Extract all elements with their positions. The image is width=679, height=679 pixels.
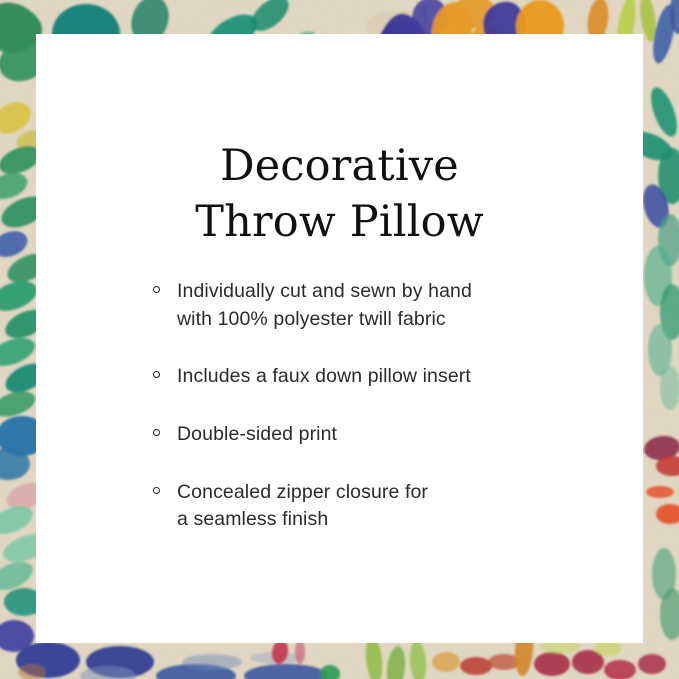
product-info-card: Decorative Throw Pillow Individually cut… (36, 34, 643, 643)
hollow-circle-bullet-icon (153, 429, 160, 436)
feature-text: Concealed zipper closure for a seamless … (177, 479, 609, 534)
list-item: Individually cut and sewn by hand with 1… (153, 278, 609, 333)
title-line-1: Decorative (36, 138, 643, 194)
hollow-circle-bullet-icon (153, 371, 160, 378)
product-info-card-screen: Decorative Throw Pillow Individually cut… (0, 0, 679, 679)
hollow-circle-bullet-icon (153, 286, 160, 293)
title-line-2: Throw Pillow (36, 194, 643, 250)
feature-text: Includes a faux down pillow insert (177, 363, 609, 391)
feature-list: Individually cut and sewn by hand with 1… (153, 278, 609, 534)
page-title: Decorative Throw Pillow (36, 138, 643, 251)
list-item: Includes a faux down pillow insert (153, 363, 609, 391)
feature-text: Double-sided print (177, 421, 609, 449)
hollow-circle-bullet-icon (153, 487, 160, 494)
list-item: Concealed zipper closure for a seamless … (153, 479, 609, 534)
feature-text: Individually cut and sewn by hand with 1… (177, 278, 609, 333)
list-item: Double-sided print (153, 421, 609, 449)
